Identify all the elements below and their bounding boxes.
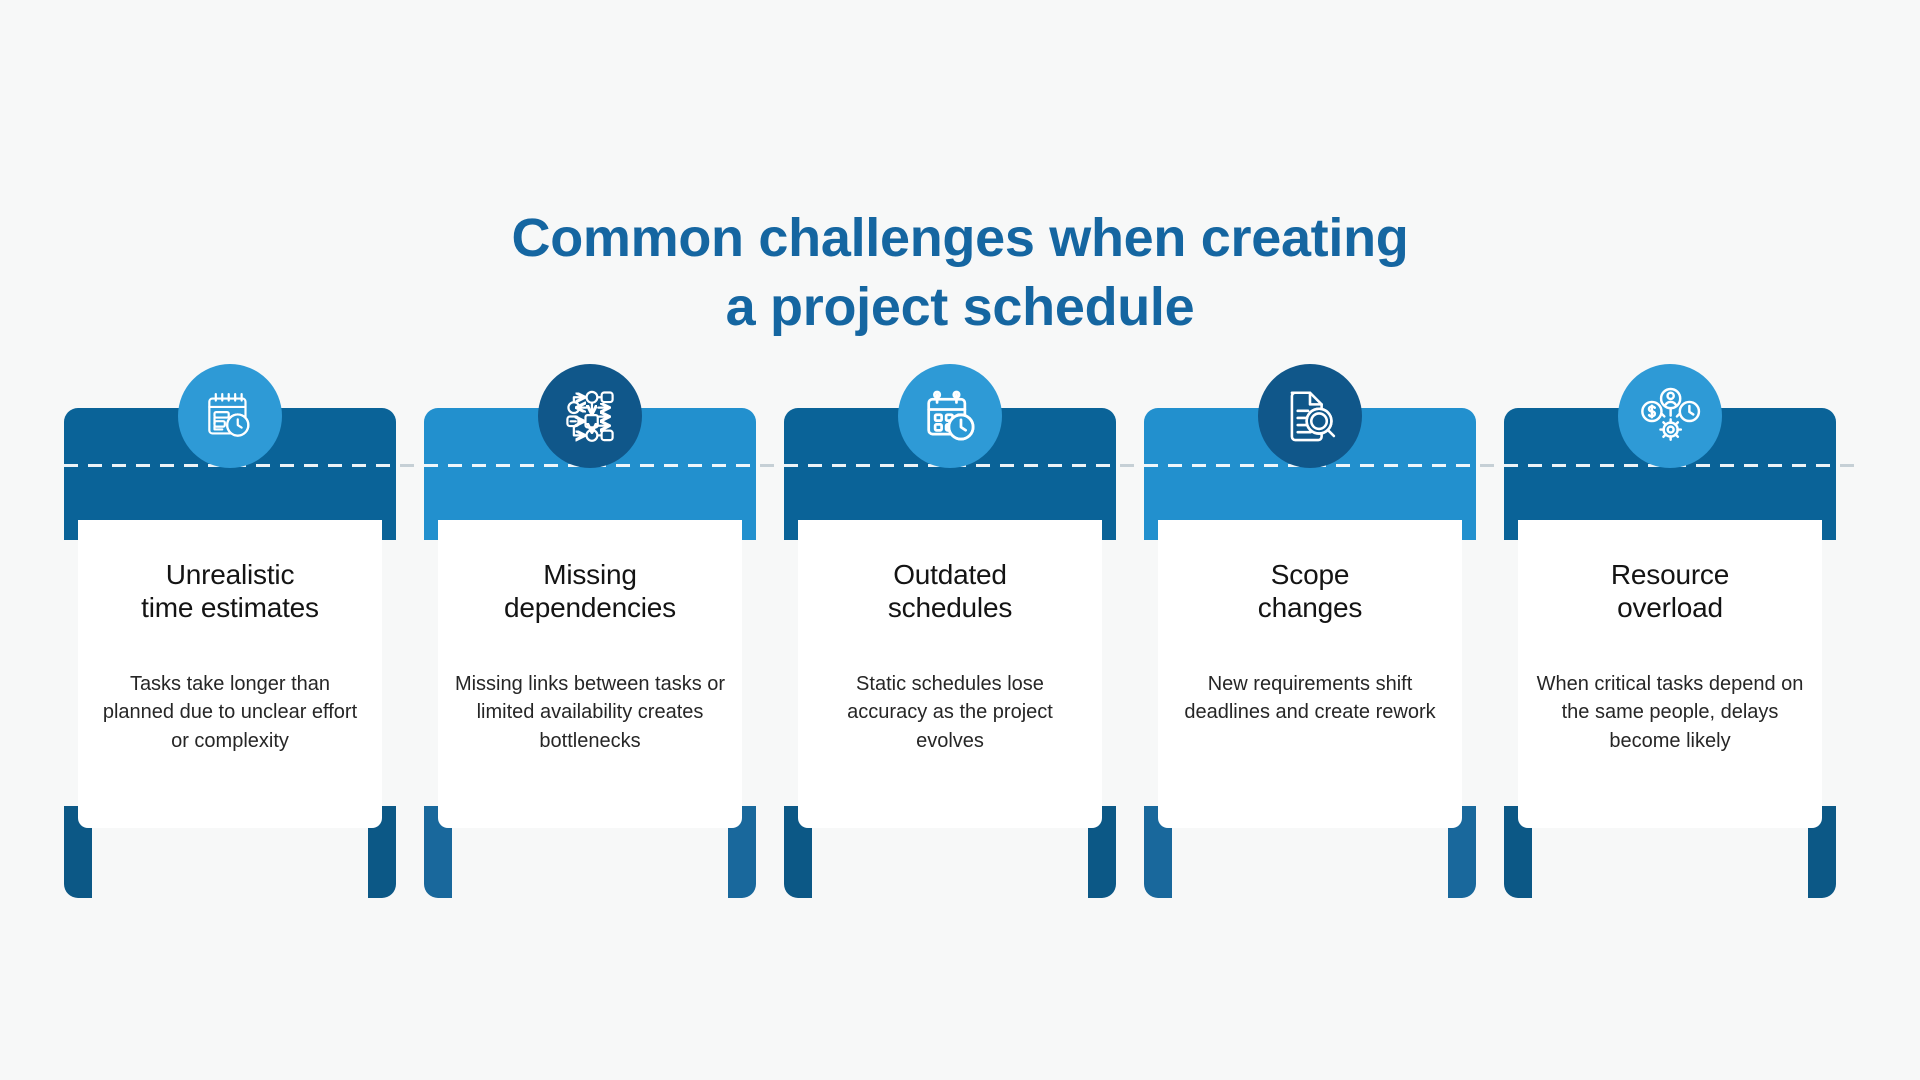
card-heading: Missingdependencies	[454, 558, 726, 624]
calendar-clock-icon	[919, 385, 981, 447]
card-body: ScopechangesNew requirements shift deadl…	[1158, 520, 1462, 828]
document-magnifier-icon	[1279, 385, 1341, 447]
card-body: OutdatedschedulesStatic schedules lose a…	[798, 520, 1102, 828]
challenge-card-resource-overload[interactable]: ResourceoverloadWhen critical tasks depe…	[1504, 408, 1836, 828]
card-heading-line-2: schedules	[888, 592, 1012, 623]
challenge-card-outdated-schedules[interactable]: OutdatedschedulesStatic schedules lose a…	[784, 408, 1116, 828]
card-heading-line-2: overload	[1617, 592, 1723, 623]
card-body: Unrealistictime estimatesTasks take long…	[78, 520, 382, 828]
card-heading: Scopechanges	[1174, 558, 1446, 624]
card-heading-line-1: Outdated	[893, 559, 1007, 590]
card-description: New requirements shift deadlines and cre…	[1174, 670, 1446, 727]
card-heading: Outdatedschedules	[814, 558, 1086, 624]
card-description: Missing links between tasks or limited a…	[454, 670, 726, 755]
card-heading-line-1: Missing	[543, 559, 637, 590]
card-heading-line-1: Resource	[1611, 559, 1729, 590]
challenge-card-unrealistic-time-estimates[interactable]: Unrealistictime estimatesTasks take long…	[64, 408, 396, 828]
challenge-card-missing-dependencies[interactable]: MissingdependenciesMissing links between…	[424, 408, 756, 828]
card-description: Tasks take longer than planned due to un…	[94, 670, 366, 755]
flowchart-dependencies-icon-badge[interactable]	[538, 364, 642, 468]
resource-gear-icon	[1639, 385, 1701, 447]
resource-gear-icon-badge[interactable]	[1618, 364, 1722, 468]
card-heading-line-1: Unrealistic	[166, 559, 295, 590]
card-heading: Resourceoverload	[1534, 558, 1806, 624]
calendar-clock-tasks-icon	[199, 385, 261, 447]
flowchart-dependencies-icon	[559, 385, 621, 447]
challenge-cards-row: Unrealistictime estimatesTasks take long…	[0, 0, 1920, 1080]
challenge-card-scope-changes[interactable]: ScopechangesNew requirements shift deadl…	[1144, 408, 1476, 828]
card-description: When critical tasks depend on the same p…	[1534, 670, 1806, 755]
card-heading: Unrealistictime estimates	[94, 558, 366, 624]
document-magnifier-icon-badge[interactable]	[1258, 364, 1362, 468]
card-heading-line-1: Scope	[1271, 559, 1349, 590]
card-description: Static schedules lose accuracy as the pr…	[814, 670, 1086, 755]
card-heading-line-2: changes	[1258, 592, 1362, 623]
card-body: ResourceoverloadWhen critical tasks depe…	[1518, 520, 1822, 828]
card-body: MissingdependenciesMissing links between…	[438, 520, 742, 828]
card-heading-line-2: time estimates	[141, 592, 319, 623]
card-heading-line-2: dependencies	[504, 592, 676, 623]
calendar-clock-icon-badge[interactable]	[898, 364, 1002, 468]
calendar-clock-tasks-icon-badge[interactable]	[178, 364, 282, 468]
